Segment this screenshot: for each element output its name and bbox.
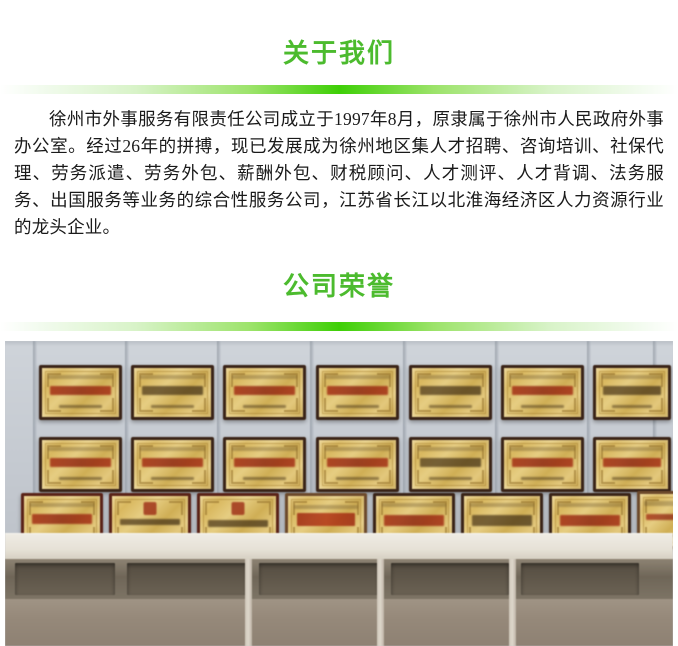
honor-wall-photo-canvas: 徐州市外事服务有限责任公司 优秀诚信劳务品牌示范单位 2019-2021年度 文… [5,341,673,646]
counter-cubby [127,563,247,595]
about-us-body-text: 徐州市外事服务有限责任公司成立于1997年8月，原隶属于徐州市人民政府外事办公室… [0,94,678,241]
reception-counter-front-panel [5,599,673,646]
award-plaque: 徐州市对外交流协会 副会长 [409,365,492,420]
award-plaque: 徐州市外事服务有限责任公司 优秀诚信劳务品牌示范单位 [39,365,122,420]
plaque-corner-ornament-icon [192,373,206,387]
plaque-corner-ornament-icon [257,501,271,515]
plaque-issuer-line [232,447,297,451]
plaque-footer-line [59,477,102,480]
plaque-text: 徐州市对外服务有限责任公司 会长单位 [412,440,413,441]
award-plaque: 江苏省对外交流服务行业协会 常务理事 [501,365,584,420]
plaque-corner-ornament-icon [231,398,245,412]
plaque-corner-ornament-icon [231,373,245,387]
plaque-corner-ornament-icon [284,445,298,459]
plaque-corner-ornament-icon [169,501,183,515]
plaque-corner-ornament-icon [284,398,298,412]
counter-cubby [391,563,509,595]
plaque-text: 江苏省对外交流协会 常务理事 [596,368,597,369]
plaque-title-line [142,458,204,468]
plaque-title-line [327,458,389,468]
plaque-footer-line [151,405,194,408]
plaque-corner-ornament-icon [139,470,153,484]
award-plaque: 江苏省人力资源服务业 骨干企业 [501,437,584,492]
plaque-issuer-line [418,447,483,451]
plaque-corner-ornament-icon [417,445,431,459]
plaque-title-line [208,520,269,528]
counter-cubby [15,563,115,595]
plaque-corner-ornament-icon [324,470,338,484]
plaque-corner-ornament-icon [417,398,431,412]
plaque-footer-line [521,405,564,408]
plaque-corner-ornament-icon [470,470,484,484]
plaque-corner-ornament-icon [649,445,663,459]
company-honor-section: 公司荣誉 [0,262,678,646]
award-plaque: 二〇一六年度 江苏省诚信人力资源服务机构 [39,437,122,492]
plaque-corner-ornament-icon [509,470,523,484]
plaque-title-line [50,458,112,468]
plaque-corner-ornament-icon [601,373,615,387]
plaque-corner-ornament-icon [377,445,391,459]
plaque-issuer-line [48,375,113,379]
plaque-corner-ornament-icon [509,373,523,387]
award-plaque: 江苏省对外交流协会 常务理事 [593,365,671,420]
plaque-corner-ornament-icon [324,445,338,459]
plaque-corner-ornament-icon [293,501,307,515]
plaque-corner-ornament-icon [284,470,298,484]
plaque-corner-ornament-icon [192,445,206,459]
plaque-issuer-line [140,375,205,379]
plaque-footer-line [336,405,379,408]
plaque-footer-line [336,477,379,480]
plaque-corner-ornament-icon [609,501,623,515]
award-plaque: 二〇一三年度 江苏省诚信人力资源服务机构 [316,365,399,420]
plaque-text: 全国质量服务信誉AAA级示范企业 [112,496,113,497]
plaque-footer-line [151,477,194,480]
plaque-title-line [142,386,204,396]
plaque-corner-ornament-icon [509,398,523,412]
plaque-corner-ornament-icon [509,445,523,459]
plaque-title-line [512,386,574,396]
plaque-title-line [50,386,112,396]
green-gradient-divider-honor [0,322,678,331]
counter-vertical-divider [509,559,516,646]
award-plaque: 2019-2021年度 文明诚信企业 [131,365,214,420]
plaque-corner-ornament-icon [139,398,153,412]
plaque-corner-ornament-icon [284,373,298,387]
plaque-corner-ornament-icon [324,398,338,412]
wall-top-edge [5,341,673,346]
about-us-page: 关于我们 徐州市外事服务有限责任公司成立于1997年8月，原隶属于徐州市人民政府… [0,17,678,616]
award-plaque: 全国人力资源服务标准化 示范机构 [593,437,671,492]
plaque-title-line [603,458,661,468]
plaque-title-line [420,458,482,468]
plaque-corner-ornament-icon [470,398,484,412]
plaque-text: 徐州市外事服务有限责任公司 优秀诚信劳务品牌示范单位 [42,368,43,369]
plaque-corner-ornament-icon [100,373,114,387]
plaque-corner-ornament-icon [601,470,615,484]
award-plaque: 二〇一二年度 江苏省诚信人力资源服务机构 [223,365,306,420]
plaque-corner-ornament-icon [377,470,391,484]
plaque-text: 二〇一七年度 江苏省诚信人力资源服务机构 [134,440,135,441]
plaque-corner-ornament-icon [433,501,447,515]
plaque-corner-ornament-icon [324,373,338,387]
plaque-corner-ornament-icon [649,470,663,484]
plaque-issuer-line [294,505,358,510]
plaque-footer-line [521,477,564,480]
plaque-corner-ornament-icon [601,445,615,459]
plaque-text: 2019年度 诚信单位 优质服务先进单位 [24,496,25,497]
plaque-issuer-line [418,375,483,379]
counter-cubby [259,563,379,595]
plaque-corner-ornament-icon [47,398,61,412]
plaque-issuer-line [48,447,113,451]
plaque-corner-ornament-icon [47,445,61,459]
plaque-text: 二〇一二年度 江苏省诚信人力资源服务机构 [226,368,227,369]
plaque-issuer-line [602,375,663,379]
counter-vertical-divider [377,559,384,646]
plaque-title-line [234,386,296,396]
plaque-corner-ornament-icon [649,373,663,387]
green-gradient-divider-about [0,85,678,94]
plaque-emblem-icon [144,502,157,515]
plaque-aaaaa-rating [297,513,355,526]
plaque-corner-ornament-icon [100,470,114,484]
plaque-corner-ornament-icon [192,470,206,484]
plaque-issuer-line [232,375,297,379]
award-plaque: 江苏省人力资源服务行业协会 会员单位 [316,437,399,492]
plaque-corner-ornament-icon [377,398,391,412]
page-title-about-us: 关于我们 [0,17,678,67]
plaque-text: 全国诚信单位评价 AAA级信用企业 [200,496,201,497]
plaque-emblem-icon [232,502,245,515]
plaque-text: 江苏省对外交流服务行业协会 常务理事 [504,368,505,369]
plaque-issuer-line [470,503,534,508]
plaque-title-line [560,515,621,526]
plaque-issuer-line [558,503,622,508]
plaque-issuer-line [382,503,446,508]
plaque-text: 二〇一六年度 江苏省诚信人力资源服务机构 [42,440,43,441]
plaque-corner-ornament-icon [521,501,535,515]
plaque-text: 江苏省生产服务重点 领军企业 [464,496,465,497]
plaque-corner-ornament-icon [562,373,576,387]
plaque-title-line [120,519,181,526]
plaque-corner-ornament-icon [417,373,431,387]
award-plaque: 徐州市对外服务有限责任公司 会长单位 [409,437,492,492]
plaque-footer-line [59,405,102,408]
plaque-footer-line [429,477,472,480]
plaque-corner-ornament-icon [557,501,571,515]
plaque-text: 江苏省人力资源服务行业协会 会员单位 [319,440,320,441]
plaque-footer-line [243,477,286,480]
plaque-issuer-line [325,447,390,451]
plaque-corner-ornament-icon [205,501,219,515]
plaque-title-line [646,514,673,520]
plaque-text: 二〇一八年度 江苏省诚信人力资源服务机构 [226,440,227,441]
plaque-corner-ornament-icon [377,373,391,387]
plaque-corner-ornament-icon [562,470,576,484]
plaque-issuer-line [602,447,663,451]
plaque-title-line [603,386,661,396]
plaque-title-line [420,386,482,396]
plaque-corner-ornament-icon [469,501,483,515]
plaque-corner-ornament-icon [100,398,114,412]
plaque-issuer-line [30,503,94,508]
plaque-corner-ornament-icon [192,398,206,412]
plaque-issuer-line [510,375,575,379]
plaque-title-line [512,458,574,468]
plaque-corner-ornament-icon [601,398,615,412]
plaque-text: 徐州市外事服务有限责任公司 全省人力资源服务机构先进集体 [640,494,641,495]
plaque-corner-ornament-icon [139,373,153,387]
counter-vertical-divider [245,559,252,646]
plaque-issuer-line [644,501,673,506]
plaque-corner-ornament-icon [417,470,431,484]
award-plaque: 二〇一七年度 江苏省诚信人力资源服务机构 [131,437,214,492]
plaque-issuer-line [325,375,390,379]
counter-cubby [521,563,639,595]
plaque-title-line [32,514,93,524]
plaque-corner-ornament-icon [47,373,61,387]
plaque-text: 二〇一三年度 江苏省诚信人力资源服务机构 [319,368,320,369]
award-plaque: 二〇一八年度 江苏省诚信人力资源服务机构 [223,437,306,492]
plaque-issuer-line [510,447,575,451]
plaque-corner-ornament-icon [47,470,61,484]
plaque-footer-line [243,405,286,408]
plaque-corner-ornament-icon [29,501,43,515]
plaque-title-line [472,515,533,526]
plaque-corner-ornament-icon [649,398,663,412]
plaque-corner-ornament-icon [381,501,395,515]
plaque-corner-ornament-icon [345,501,359,515]
plaque-corner-ornament-icon [231,470,245,484]
plaque-corner-ornament-icon [100,445,114,459]
plaque-text: 江苏省人力资源服务业 骨干企业 [504,440,505,441]
plaque-corner-ornament-icon [81,501,95,515]
plaque-corner-ornament-icon [470,445,484,459]
plaque-footer-line [612,477,652,480]
plaque-corner-ornament-icon [645,499,659,513]
plaque-text: 2019-2021年度 文明诚信企业 [134,368,135,369]
plaque-corner-ornament-icon [231,445,245,459]
plaque-corner-ornament-icon [139,445,153,459]
plaque-corner-ornament-icon [117,501,131,515]
plaque-text: 全国人力资源服务标准化 示范机构 [596,440,597,441]
plaque-footer-line [612,405,652,408]
plaque-issuer-line [140,447,205,451]
plaque-text: AAAAA 江苏省人力资源服务标准化示范单位 [288,496,289,497]
plaque-title-line [234,458,296,468]
about-us-section: 关于我们 徐州市外事服务有限责任公司成立于1997年8月，原隶属于徐州市人民政府… [0,17,678,240]
reception-counter-top [5,533,673,560]
honor-wall-photo: 徐州市外事服务有限责任公司 优秀诚信劳务品牌示范单位 2019-2021年度 文… [5,341,673,646]
plaque-text: 徐州市对外交流协会 副会长 [412,368,413,369]
page-title-company-honor: 公司荣誉 [0,262,678,300]
plaque-corner-ornament-icon [562,445,576,459]
plaque-text: 2019年度江苏省人力资源服务行业 优秀单位 [552,496,553,497]
plaque-footer-line [429,405,472,408]
plaque-title-line [327,386,389,396]
plaque-title-line [384,515,445,526]
plaque-text: 2019年度 先进个人 优秀企业 [376,496,377,497]
plaque-corner-ornament-icon [470,373,484,387]
plaque-corner-ornament-icon [562,398,576,412]
